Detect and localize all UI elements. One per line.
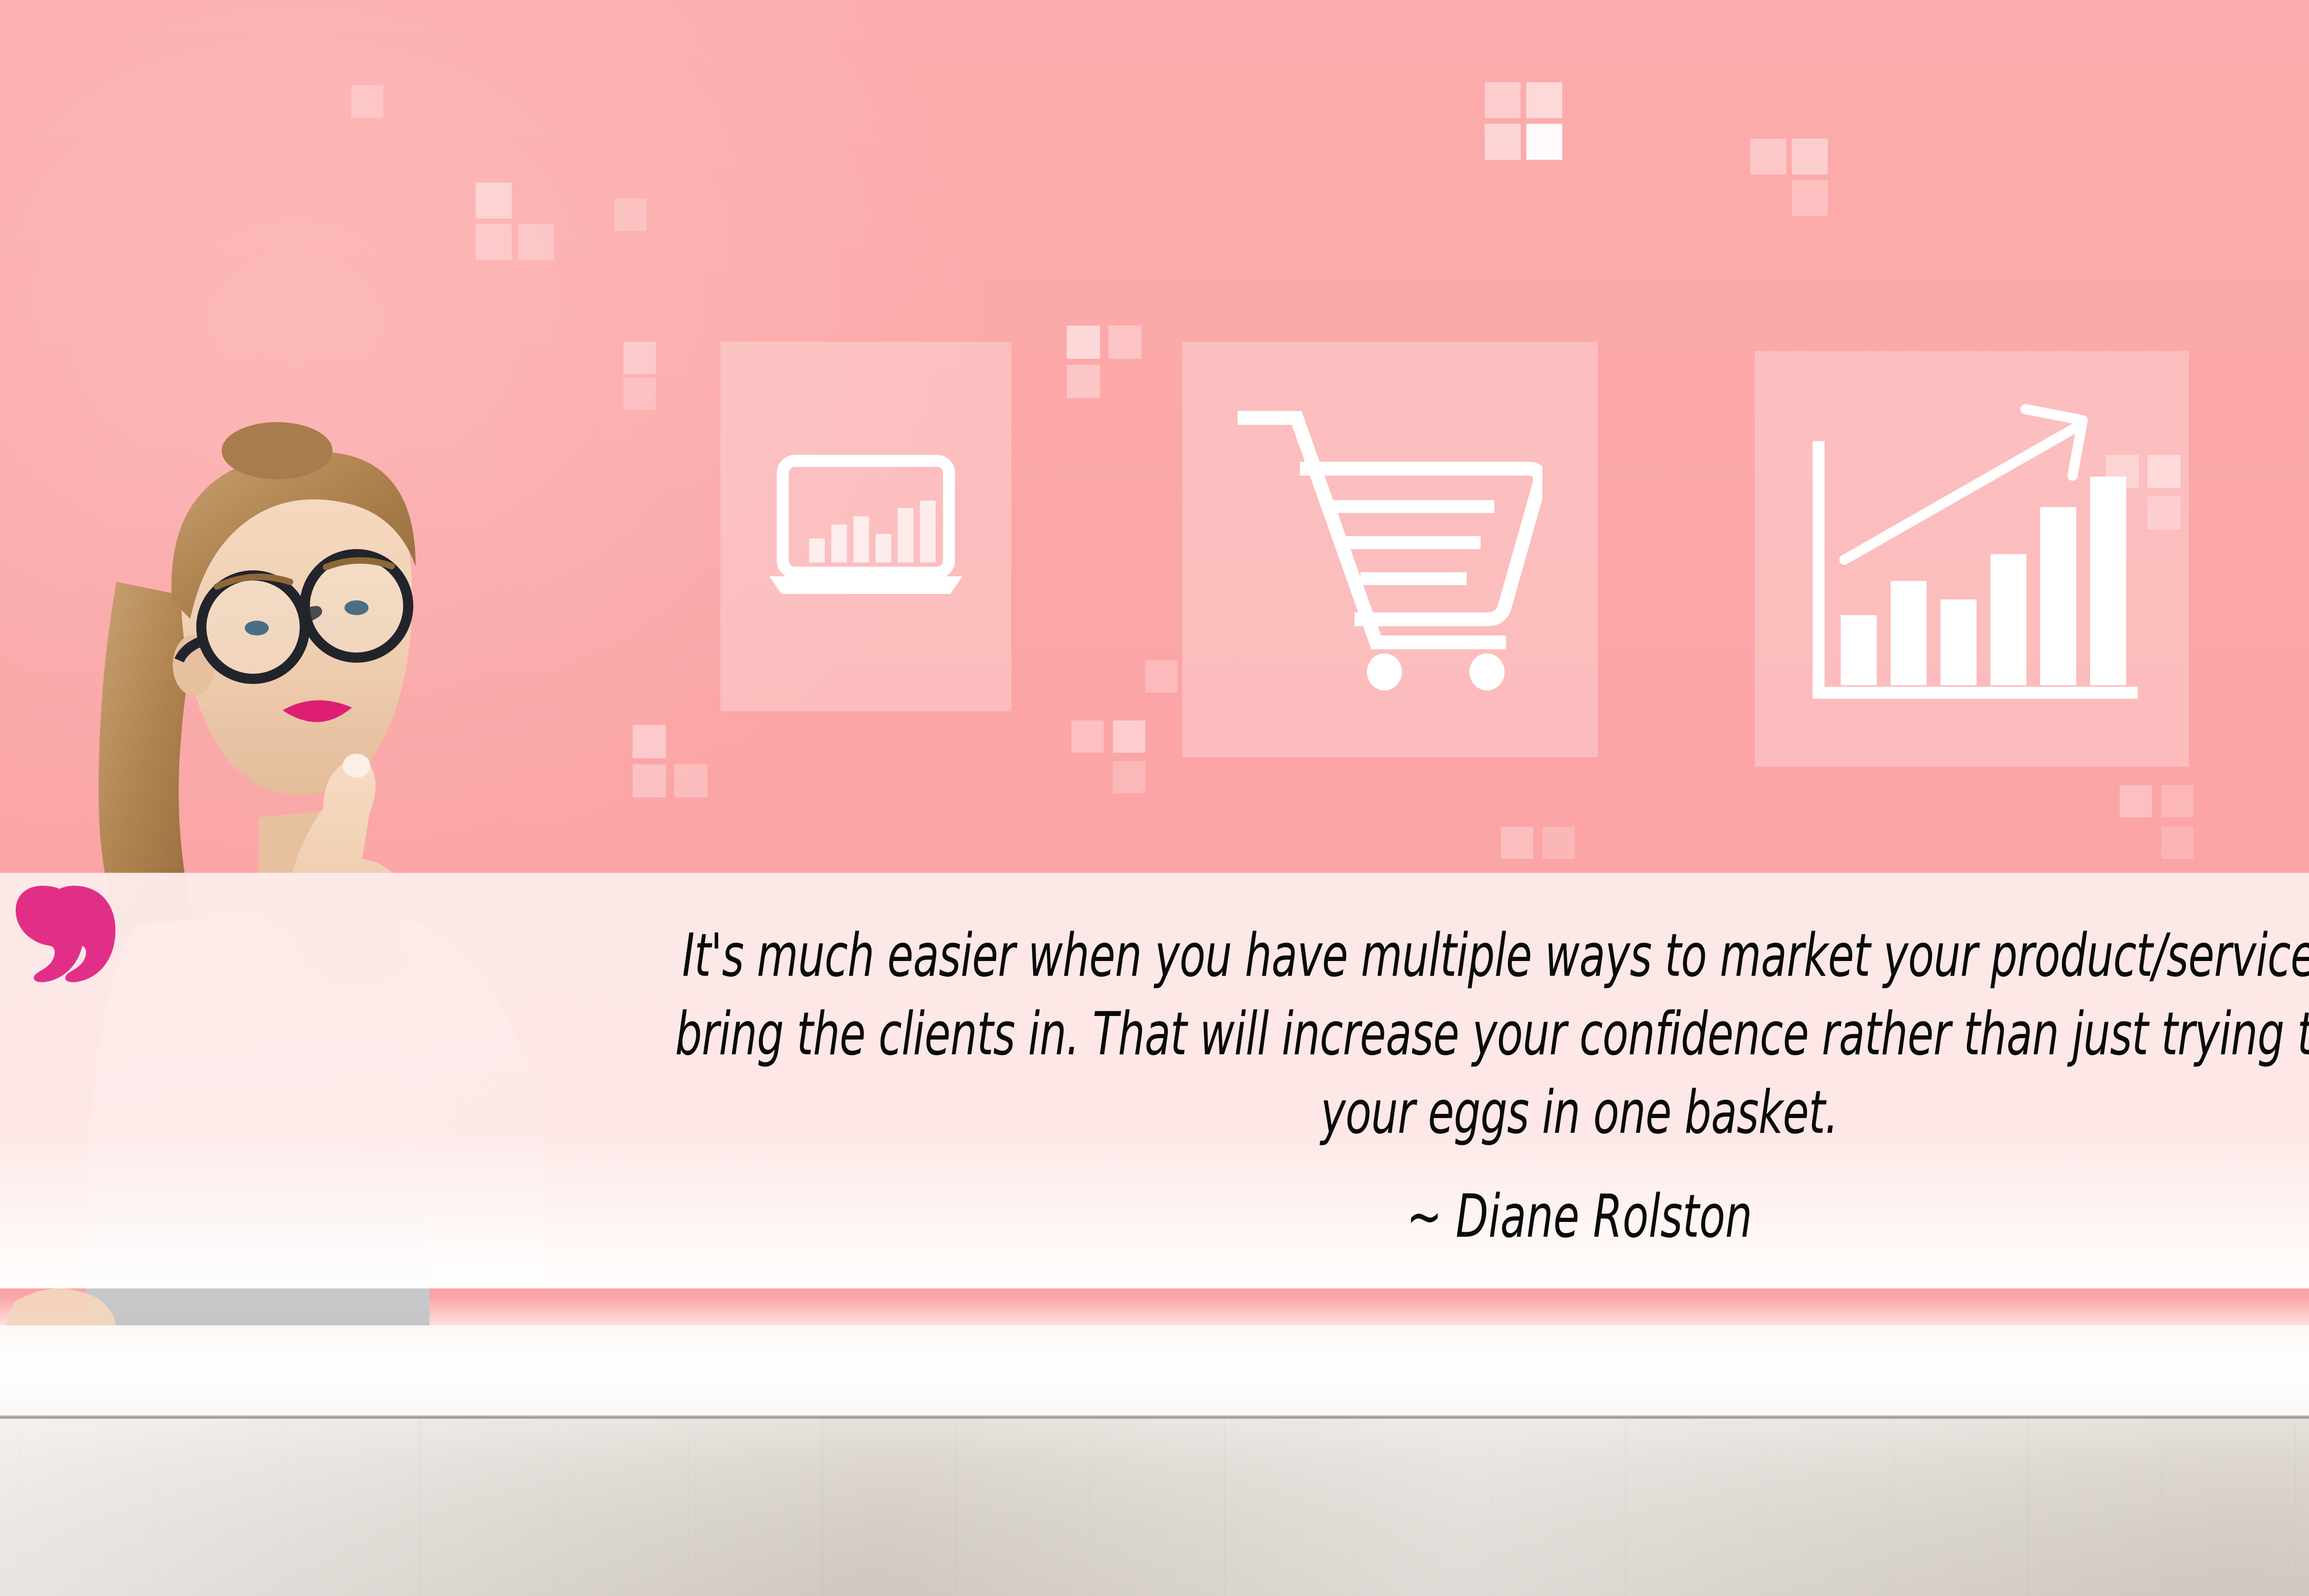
quote-author: ~ Diane Rolston [438, 1178, 2309, 1256]
laptop-bar-chart-icon [767, 453, 965, 600]
pixel-square [1526, 82, 1562, 118]
pixel-square [351, 85, 383, 118]
pixel-square [476, 182, 512, 218]
pixel-square [1113, 761, 1145, 793]
pixel-square [2120, 785, 2152, 817]
pixel-square [476, 224, 512, 260]
floor-sheen [0, 1419, 2309, 1596]
pixel-square [1071, 720, 1104, 753]
panel-shopping-cart [1182, 342, 1598, 757]
quote-line-2: bring the clients in. That will increase… [438, 995, 2309, 1074]
pixel-square [1526, 124, 1562, 160]
pixel-square [1145, 660, 1178, 693]
open-quote-mark [14, 882, 125, 988]
pixel-square [1750, 139, 1786, 175]
pixel-square [614, 199, 647, 231]
pixel-square [2161, 785, 2194, 817]
quote-line-1: It's much easier when you have multiple … [438, 917, 2309, 995]
pixel-square [1501, 827, 1533, 859]
white-baseboard [0, 1325, 2309, 1422]
pixel-square [1485, 124, 1521, 160]
pixel-square [1542, 827, 1575, 859]
wood-floor [0, 1419, 2309, 1596]
pixel-square [1113, 720, 1145, 753]
pixel-square [1485, 82, 1521, 118]
shopping-cart-icon [1238, 409, 1542, 690]
pixel-square [1067, 365, 1100, 398]
growth-bar-chart-icon [1806, 402, 2138, 716]
pixel-square [1108, 326, 1142, 359]
pixel-square [2161, 827, 2194, 859]
pixel-square [1067, 326, 1100, 359]
quote-line-3: your eggs in one basket. [438, 1074, 2309, 1152]
pixel-square [518, 224, 554, 260]
panel-growth-chart [1755, 351, 2189, 767]
pixel-square [1792, 180, 1828, 216]
quote-text-block: It's much easier when you have multiple … [438, 917, 2309, 1153]
quote-graphic-canvas: It's much easier when you have multiple … [0, 0, 2309, 1596]
panel-laptop-chart [720, 342, 1011, 711]
pixel-square [1792, 139, 1828, 175]
pixel-square [674, 764, 707, 798]
